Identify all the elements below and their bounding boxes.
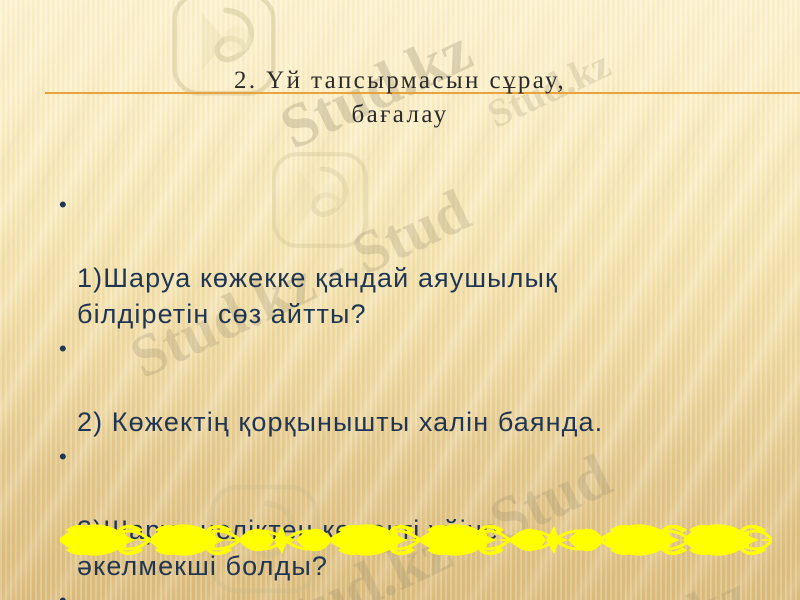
- bullet-dot-icon: •: [59, 190, 68, 220]
- kazakh-ornament-border: [60, 516, 772, 564]
- presentation-slide: Stud.kz Stud.kz - Stud Stud.kz - Stud St…: [0, 0, 800, 600]
- slide-title: 2. Үй тапсырмасын сұрау, бағалау: [0, 64, 800, 132]
- bullet-dot-icon: •: [59, 586, 68, 600]
- bullet-dot-icon: •: [59, 442, 68, 472]
- list-item: • 1)Шаруа көжекке қандай аяушылық білдір…: [56, 188, 786, 332]
- list-item: • 2) Көжектің қорқынышты халін баянда.: [56, 332, 786, 440]
- bullet-dot-icon: •: [59, 334, 68, 364]
- list-item-text: 2) Көжектің қорқынышты халін баянда.: [77, 407, 603, 437]
- list-item-text: 1)Шаруа көжекке қандай аяушылық білдірет…: [77, 263, 558, 329]
- list-item: • 4) Туған-жер, отан туралы қандай мақал…: [56, 584, 786, 600]
